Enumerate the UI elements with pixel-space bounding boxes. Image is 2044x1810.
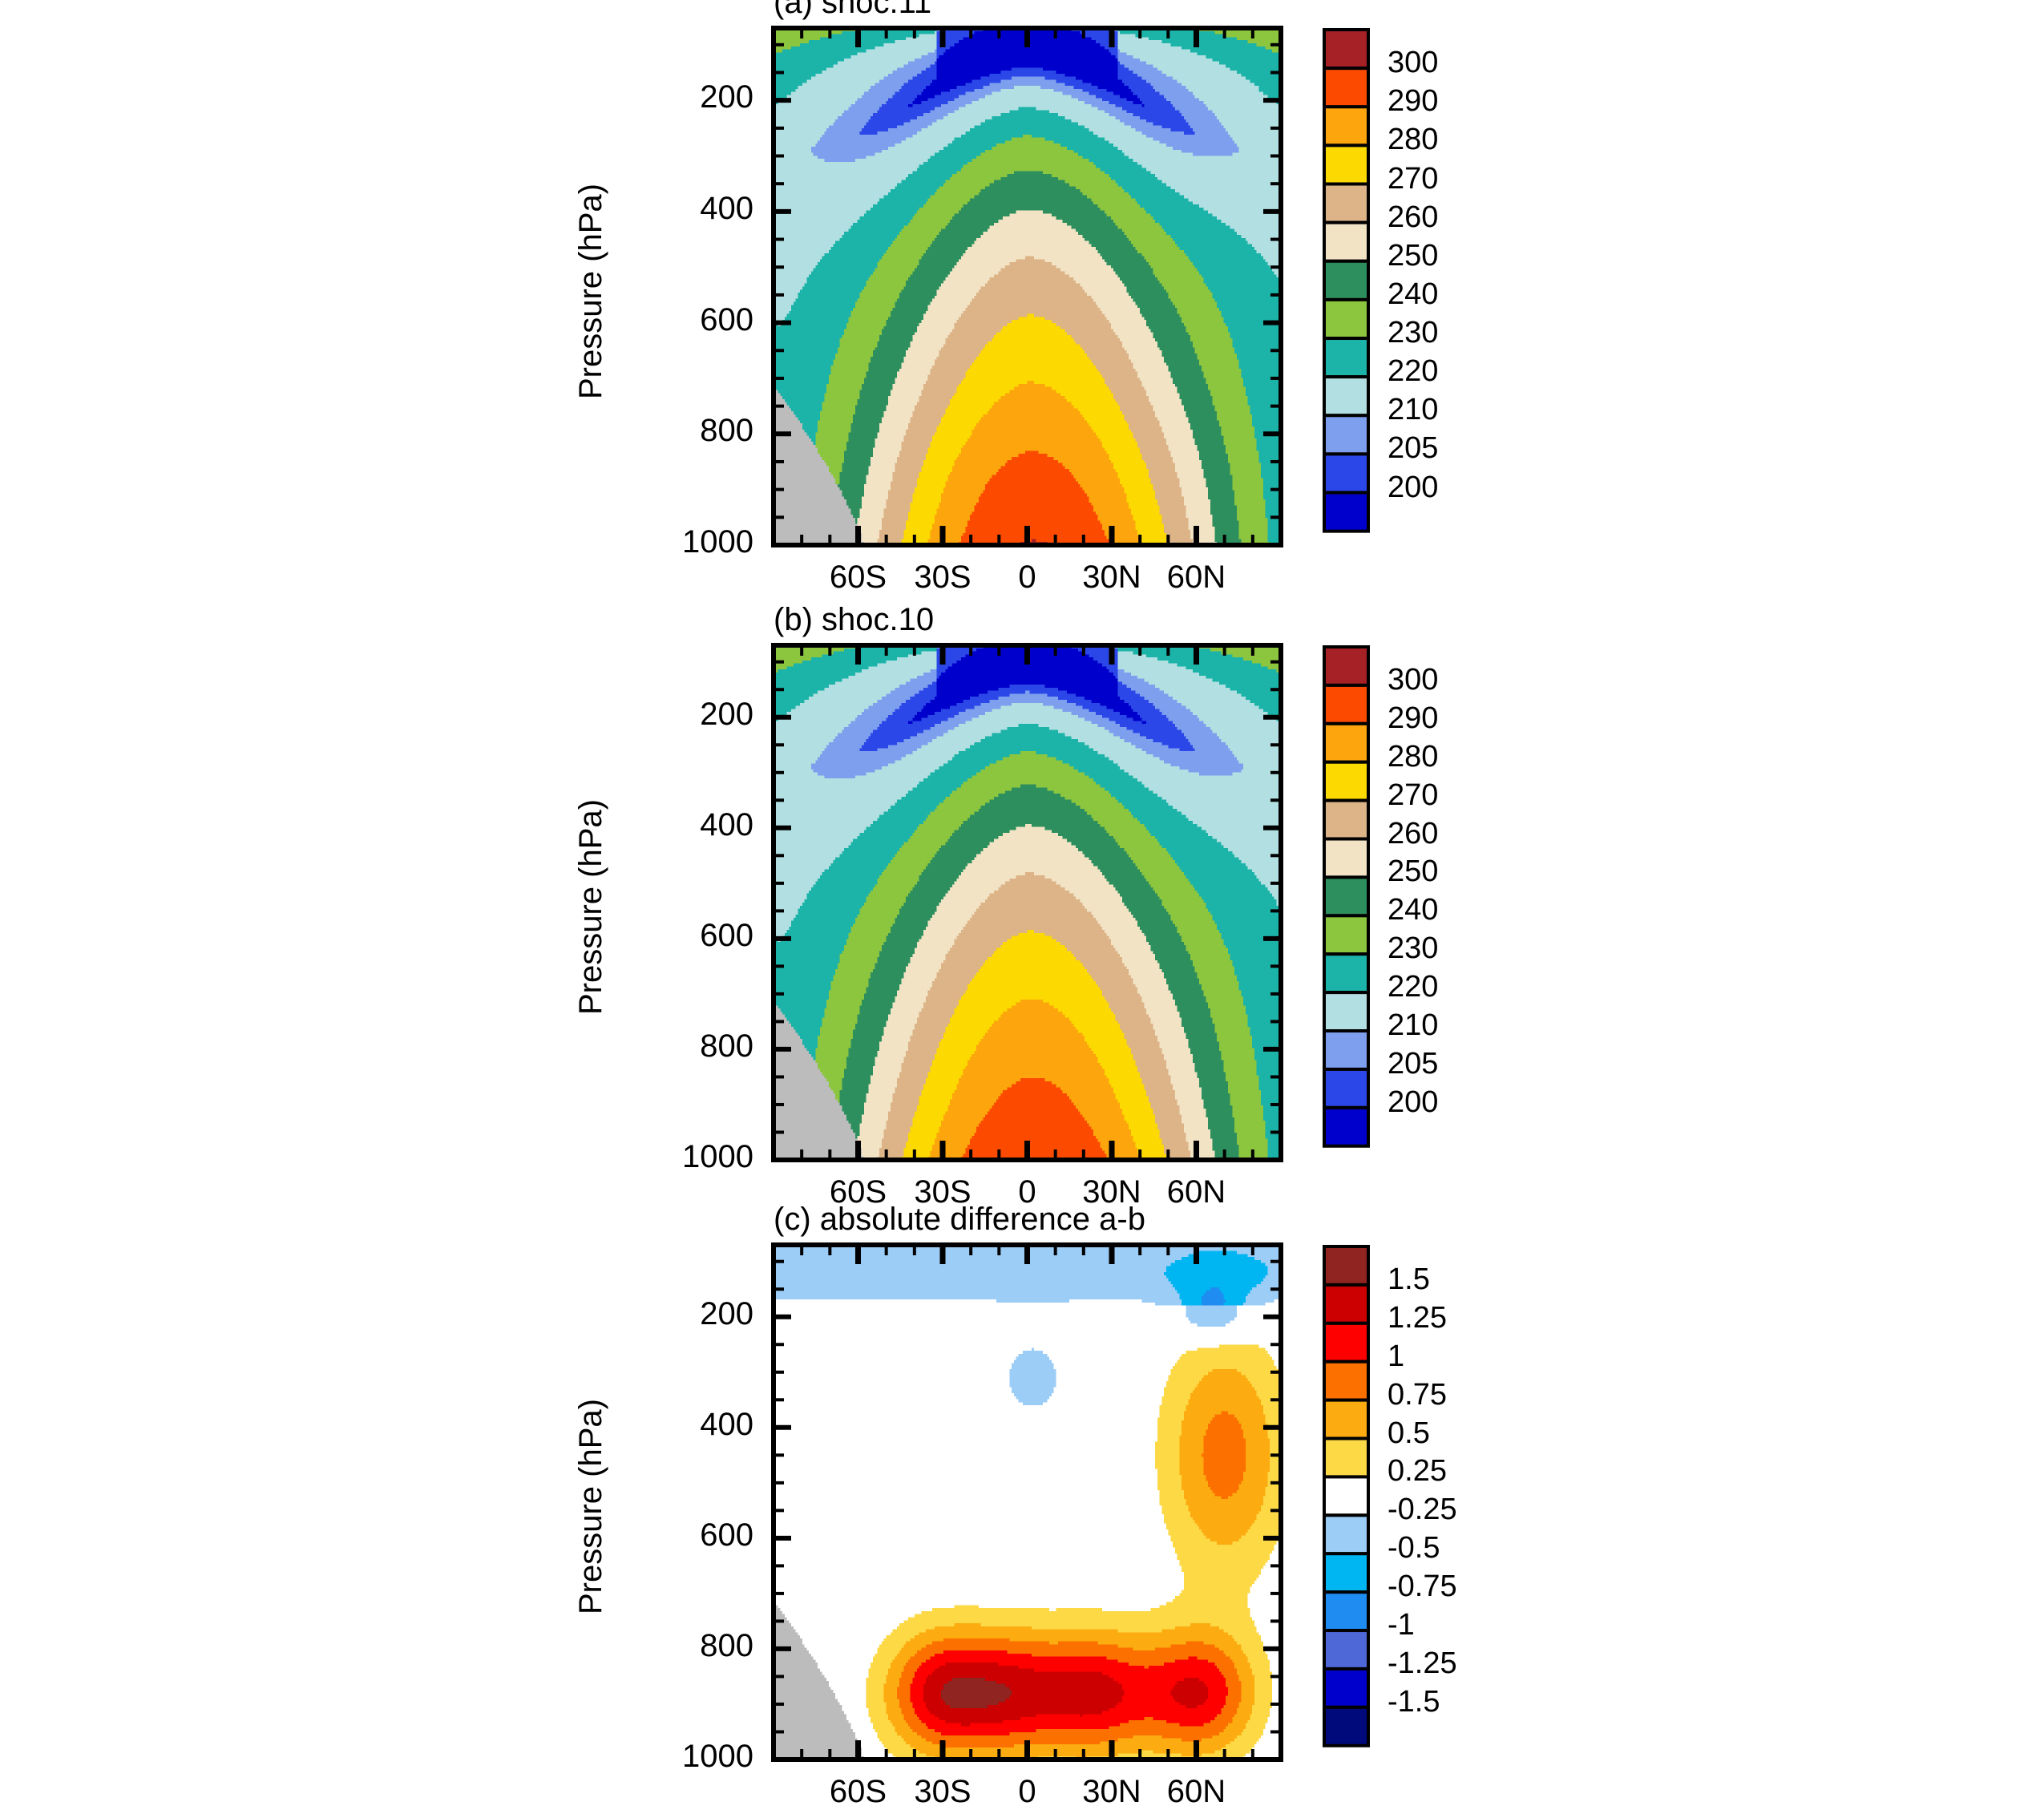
panel-b-colorbar-tick-label: 220: [1388, 970, 1438, 1004]
panel-b-title: (b) shoc.10: [774, 602, 934, 638]
panel-c-colorbar-tick-label: 1.5: [1388, 1263, 1430, 1297]
panel-c-colorbar-tick-label: -1.5: [1388, 1685, 1440, 1719]
panel-b-colorbar-tick-label: 205: [1388, 1047, 1438, 1081]
panel-a-colorbar-tick-label: 240: [1388, 277, 1438, 312]
panel-b-y-tick-label: 600: [625, 918, 753, 954]
panel-a-y-axis-label: Pressure (hPa): [573, 184, 609, 399]
panel-b-colorbar-tick-label: 280: [1388, 740, 1438, 774]
panel-a-y-tick-label: 600: [625, 302, 753, 338]
panel-a-colorbar-tick-label: 210: [1388, 393, 1438, 427]
panel-a-colorbar-tick-label: 300: [1388, 46, 1438, 80]
panel-b-colorbar-tick-label: 260: [1388, 817, 1438, 851]
panel-c-y-tick-label: 600: [625, 1517, 753, 1553]
panel-b-y-axis-label: Pressure (hPa): [573, 799, 609, 1015]
figure-root: (a) shoc.11Pressure (hPa)200400600800100…: [0, 0, 2044, 1805]
panel-b-colorbar-tick-label: 200: [1388, 1085, 1438, 1120]
panel-b-y-tick-label: 200: [625, 697, 753, 733]
panel-c-plot-area[interactable]: [774, 1245, 1281, 1759]
panel-a-y-tick-label: 200: [625, 79, 753, 115]
panel-a-y-tick-label: 1000: [625, 524, 753, 560]
panel-a-colorbar-tick-label: 230: [1388, 316, 1438, 350]
panel-c-colorbar-tick-label: 0.75: [1388, 1378, 1447, 1412]
panel-b-colorbar-tick-label: 230: [1388, 931, 1438, 966]
panel-b-plot-area[interactable]: [774, 645, 1281, 1160]
panel-c-title: (c) absolute difference a-b: [774, 1202, 1145, 1238]
panel-c-colorbar-swatches: [1323, 1245, 1370, 1747]
panel-b-colorbar-tick-label: 300: [1388, 663, 1438, 697]
panel-c-x-tick-label: 60N: [1133, 1774, 1261, 1810]
panel-c-colorbar-tick-label: -0.75: [1388, 1570, 1457, 1604]
panel-a-colorbar-swatches: [1323, 28, 1370, 533]
panel-c-y-tick-label: 200: [625, 1296, 753, 1332]
panel-b-contour-field: [770, 642, 1284, 1163]
panel-c-colorbar-tick-label: 1: [1388, 1339, 1404, 1374]
panel-a-title: (a) shoc.11: [774, 0, 931, 21]
panel-b-colorbar-swatches: [1323, 645, 1370, 1148]
panel-c-colorbar-tick-label: -1.25: [1388, 1646, 1457, 1681]
panel-c-colorbar-tick-label: 0.5: [1388, 1416, 1430, 1451]
panel-a-plot-area[interactable]: [774, 28, 1281, 545]
panel-b-y-tick-label: 800: [625, 1028, 753, 1065]
panel-b-colorbar-tick-label: 270: [1388, 778, 1438, 813]
panel-c-colorbar-tick-label: 1.25: [1388, 1301, 1447, 1335]
panel-a-colorbar-tick-label: 250: [1388, 239, 1438, 273]
panel-b-x-tick-label: 60N: [1133, 1174, 1261, 1210]
panel-c-colorbar-tick-label: -1: [1388, 1608, 1415, 1642]
panel-c-y-tick-label: 400: [625, 1407, 753, 1443]
panel-a-colorbar-tick-label: 200: [1388, 471, 1438, 505]
panel-a-colorbar-tick-label: 220: [1388, 354, 1438, 389]
panel-c-colorbar-tick-label: -0.25: [1388, 1493, 1457, 1527]
panel-c-colorbar-tick-label: 0.25: [1388, 1454, 1447, 1489]
panel-c-y-tick-label: 1000: [625, 1739, 753, 1775]
panel-b-colorbar-tick-label: 210: [1388, 1008, 1438, 1043]
panel-a-colorbar-tick-label: 205: [1388, 431, 1438, 466]
panel-a-colorbar-tick-label: 280: [1388, 123, 1438, 157]
panel-c-contour-field: [770, 1242, 1284, 1763]
panel-a-y-tick-label: 800: [625, 413, 753, 449]
panel-a-colorbar-tick-label: 290: [1388, 84, 1438, 119]
panel-c-y-axis-label: Pressure (hPa): [573, 1399, 609, 1614]
panel-b-y-tick-label: 1000: [625, 1139, 753, 1175]
panel-c-colorbar-tick-label: -0.5: [1388, 1531, 1440, 1566]
panel-b-y-tick-label: 400: [625, 807, 753, 843]
panel-a-colorbar-tick-label: 270: [1388, 162, 1438, 196]
panel-b-colorbar-tick-label: 240: [1388, 893, 1438, 927]
panel-b-colorbar-tick-label: 290: [1388, 701, 1438, 736]
panel-a-y-tick-label: 400: [625, 191, 753, 227]
panel-a-x-tick-label: 60N: [1133, 560, 1261, 596]
panel-c-y-tick-label: 800: [625, 1628, 753, 1664]
panel-a-colorbar-tick-label: 260: [1388, 200, 1438, 235]
panel-a-contour-field: [770, 25, 1284, 548]
panel-b-colorbar-tick-label: 250: [1388, 854, 1438, 889]
